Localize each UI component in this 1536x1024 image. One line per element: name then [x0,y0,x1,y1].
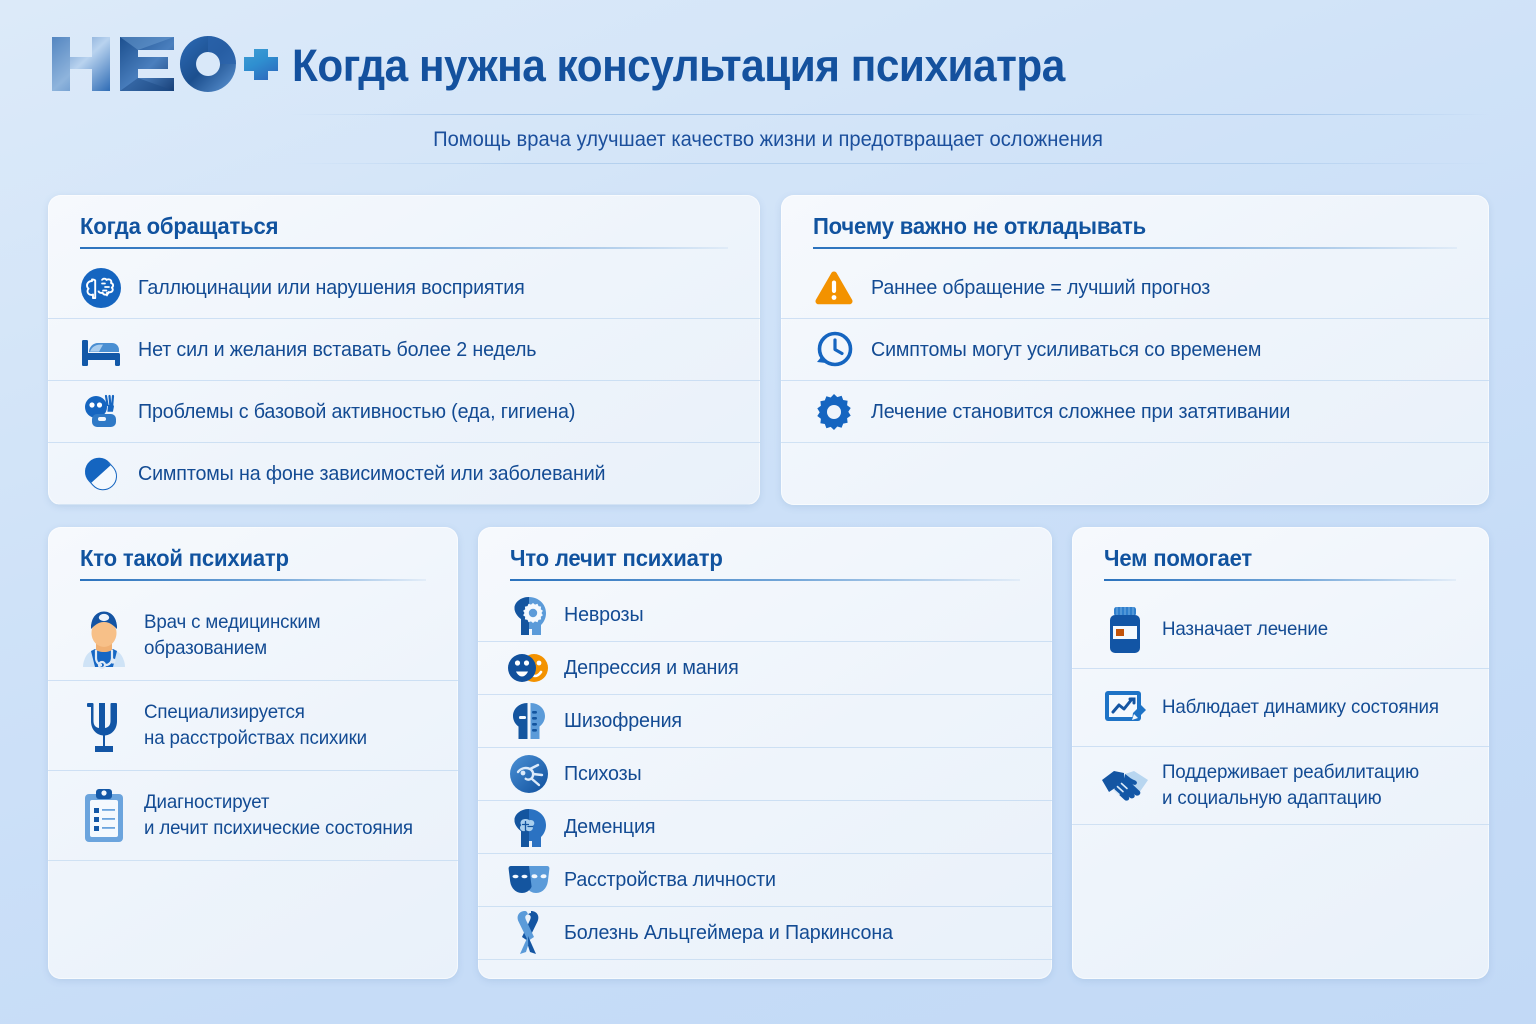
theater-masks-icon [508,859,550,901]
list-item[interactable]: Депрессия и мания [478,642,1052,695]
brand-logo [48,33,280,95]
card-how-it-helps: Чем помогает Назначает лечение [1072,527,1489,979]
header-divider [290,114,1490,115]
list-item[interactable]: Расстройства личности [478,854,1052,907]
list-item-label: Неврозы [564,601,643,628]
two-faces-icon [508,647,550,689]
card-what-psychiatrist-treats: Что лечит психиатр Неврозы [478,527,1052,979]
clock-icon [811,327,857,373]
card-title: Кто такой психиатр [80,545,289,572]
list-item-label: Симптомы на фоне зависимостей или заболе… [138,460,605,487]
card-title-divider [80,247,728,249]
card-title: Чем помогает [1104,545,1252,572]
card-who-is-psychiatrist: Кто такой психиатр [48,527,458,979]
head-brain-icon [508,806,550,848]
card-items-list: Назначает лечение Наблюдает динамику сос… [1072,591,1489,825]
list-item[interactable]: Наблюдает динамику состояния [1072,669,1489,747]
chart-monitor-icon [1102,685,1148,731]
list-item-label: Болезнь Альцгеймера и Паркинсона [564,919,893,946]
list-item-label: Раннее обращение = лучший прогноз [871,274,1210,301]
list-item-label: Назначает лечение [1162,617,1328,643]
list-item[interactable]: Врач с медицинским образованием [48,591,458,681]
warning-triangle-icon [811,265,857,311]
clipboard-icon [78,785,130,847]
page-subtitle: Помощь врача улучшает качество жизни и п… [31,128,1506,152]
psychosis-icon [508,753,550,795]
card-title: Почему важно не откладывать [813,213,1146,240]
page-title: Когда нужна консультация психиатра [292,40,1065,92]
list-item[interactable]: Проблемы с базовой активностью (еда, гиг… [48,381,760,443]
card-why-not-delay: Почему важно не откладывать Раннее обращ… [781,195,1489,505]
card-title-divider [80,579,426,581]
psi-symbol-icon [78,695,130,757]
awareness-ribbon-icon [508,912,550,954]
list-item-label: Деменция [564,813,655,840]
list-item[interactable]: Поддерживает реабилитацию и социальную а… [1072,747,1489,825]
card-title-divider [813,247,1457,249]
list-item[interactable]: Шизофрения [478,695,1052,748]
card-items-list: Неврозы Депрессия и мания [478,589,1052,960]
card-items-list: Раннее обращение = лучший прогноз Симпто… [781,257,1489,443]
list-item[interactable]: Специализируется на расстройствах психик… [48,681,458,771]
list-item-label: Симптомы могут усиливаться со временем [871,336,1261,363]
list-item[interactable]: Раннее обращение = лучший прогноз [781,257,1489,319]
list-item-label: Лечение становится сложнее при затятиван… [871,398,1290,425]
list-item-label: Проблемы с базовой активностью (еда, гиг… [138,398,575,425]
split-head-icon [508,700,550,742]
list-item[interactable]: Симптомы на фоне зависимостей или заболе… [48,443,760,505]
list-item-label: Психозы [564,760,641,787]
list-item-label: Диагностирует и лечит психические состоя… [144,790,413,841]
list-item-label: Наблюдает динамику состояния [1162,695,1439,721]
capsule-icon [78,451,124,497]
list-item-label: Поддерживает реабилитацию и социальную а… [1162,760,1419,811]
subtitle-divider [290,163,1490,164]
list-item-label: Шизофрения [564,707,682,734]
list-item-label: Галлюцинации или нарушения восприятия [138,274,525,301]
card-when-to-seek-help: Когда обращаться Галлюцинации или наруше… [48,195,760,505]
list-item-label: Врач с медицинским образованием [144,610,320,661]
handshake-icon [1102,763,1148,809]
card-title: Когда обращаться [80,213,278,240]
card-title-divider [510,579,1020,581]
meal-icon [78,389,124,435]
list-item[interactable]: Неврозы [478,589,1052,642]
list-item[interactable]: Диагностирует и лечит психические состоя… [48,771,458,861]
card-title: Что лечит психиатр [510,545,723,572]
list-item-label: Нет сил и желания вставать более 2 недел… [138,336,536,363]
head-gear-icon [508,594,550,636]
gear-icon [811,389,857,435]
card-items-list: Врач с медицинским образованием Специали… [48,591,458,861]
doctor-avatar-icon [78,605,130,667]
list-item[interactable]: Лечение становится сложнее при затятиван… [781,381,1489,443]
card-title-divider [1104,579,1456,581]
list-item-label: Специализируется на расстройствах психик… [144,700,367,751]
pill-bottle-icon [1102,607,1148,653]
list-item[interactable]: Психозы [478,748,1052,801]
list-item[interactable]: Назначает лечение [1072,591,1489,669]
list-item-label: Депрессия и мания [564,654,739,681]
card-items-list: Галлюцинации или нарушения восприятия Не… [48,257,760,505]
list-item[interactable]: Симптомы могут усиливаться со временем [781,319,1489,381]
list-item-label: Расстройства личности [564,866,776,893]
page-header: Когда нужна консультация психиатра Помощ… [0,0,1536,178]
brain-icon [78,265,124,311]
list-item[interactable]: Галлюцинации или нарушения восприятия [48,257,760,319]
bed-icon [78,327,124,373]
list-item[interactable]: Деменция [478,801,1052,854]
list-item[interactable]: Болезнь Альцгеймера и Паркинсона [478,907,1052,960]
list-item[interactable]: Нет сил и желания вставать более 2 недел… [48,319,760,381]
